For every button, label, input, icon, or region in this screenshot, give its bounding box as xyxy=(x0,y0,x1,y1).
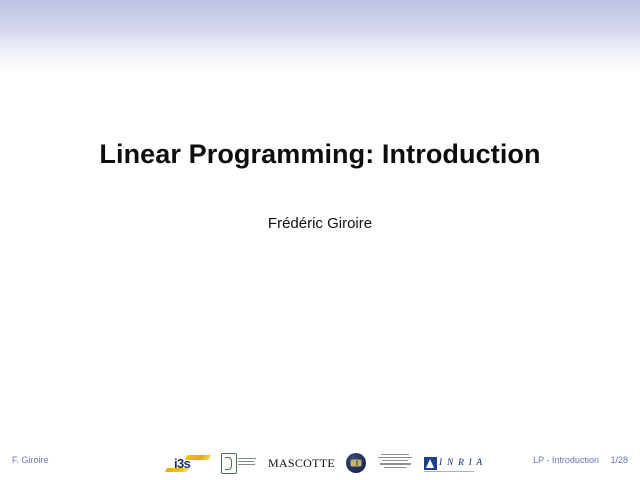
cnrs-logo xyxy=(221,452,257,474)
partners-line xyxy=(378,457,411,458)
inria-mark-icon xyxy=(424,457,437,470)
cnrs-wordmark-lines-icon xyxy=(238,458,256,467)
i3s-logo: i3s xyxy=(166,453,210,473)
cnrs-mark-icon xyxy=(221,453,237,474)
unsa-logo xyxy=(346,453,366,473)
inria-logo-text: I N R I A xyxy=(439,458,483,468)
presentation-slide: Linear Programming: Introduction Frédéri… xyxy=(0,0,640,480)
cnrs-line xyxy=(238,464,255,465)
slide-footer: F. Giroire i3s MASCOTTE xyxy=(0,446,640,480)
inria-logo: I N R I A xyxy=(424,453,474,473)
mascotte-logo: MASCOTTE xyxy=(268,456,335,471)
i3s-swoosh-bottom-icon xyxy=(165,468,189,472)
slide-header-gradient xyxy=(0,0,640,72)
partners-line xyxy=(384,467,406,468)
unsa-emblem-icon xyxy=(351,460,362,467)
cnrs-line xyxy=(238,458,256,459)
author-name: Frédéric Giroire xyxy=(0,215,640,232)
footer-section-label: LP - Introduction xyxy=(533,455,599,465)
inria-underline xyxy=(424,471,474,472)
footer-section-info: LP - Introduction 1/28 xyxy=(533,455,628,465)
partners-line xyxy=(381,454,409,455)
partners-logo xyxy=(377,454,413,473)
cnrs-line xyxy=(238,461,254,462)
title-block: Linear Programming: Introduction xyxy=(0,140,640,170)
partners-line xyxy=(380,463,411,464)
footer-page-number: 1/28 xyxy=(610,455,628,465)
partners-line xyxy=(382,460,407,461)
author-block: Frédéric Giroire xyxy=(0,215,640,232)
page-title: Linear Programming: Introduction xyxy=(0,140,640,170)
